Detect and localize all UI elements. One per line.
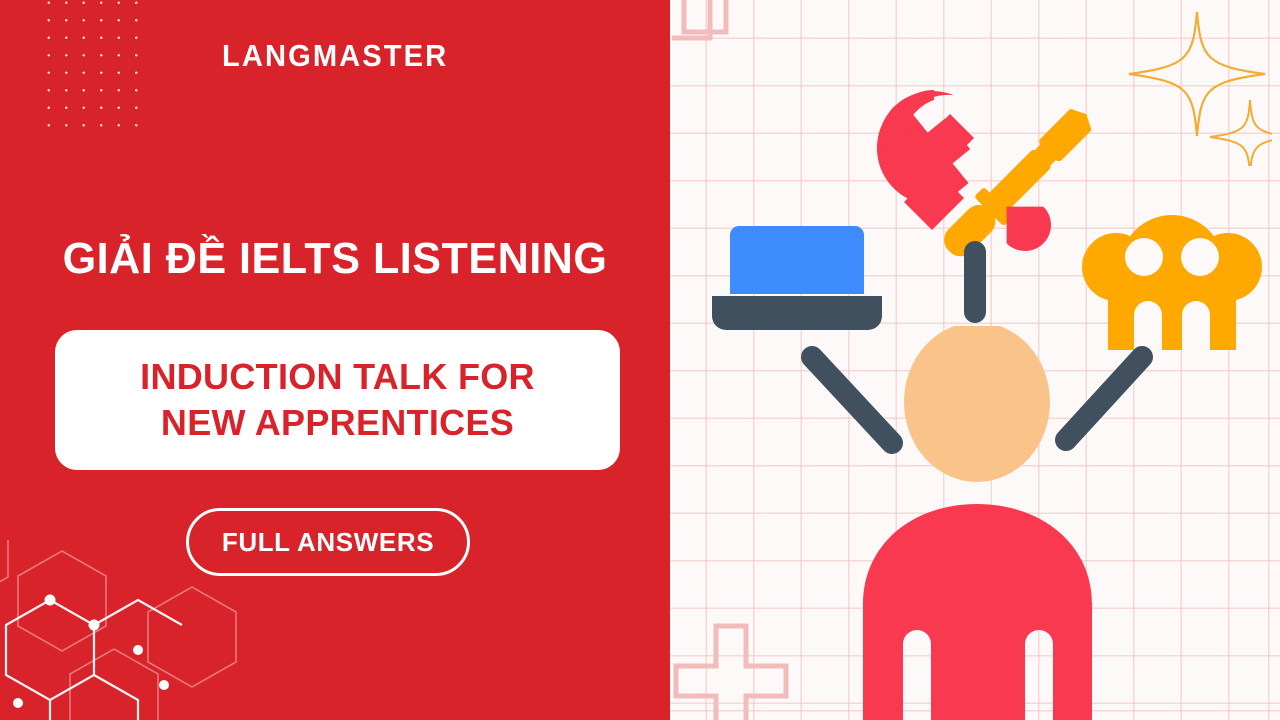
subject-line-2: NEW APPRENTICES xyxy=(161,403,514,443)
illustration-panel xyxy=(670,0,1280,720)
subject-card: INDUCTION TALK FOR NEW APPRENTICES xyxy=(55,330,620,470)
full-answers-badge[interactable]: FULL ANSWERS xyxy=(186,508,470,576)
poster-canvas: LANGMASTER GIẢI ĐỀ IELTS LISTENING INDUC… xyxy=(0,0,1280,720)
plus-outline-icon xyxy=(672,620,792,720)
page-title: GIẢI ĐỀ IELTS LISTENING xyxy=(7,236,664,282)
full-answers-label: FULL ANSWERS xyxy=(222,527,434,558)
title-panel: LANGMASTER GIẢI ĐỀ IELTS LISTENING INDUC… xyxy=(0,0,670,720)
brand-logo[interactable]: LANGMASTER xyxy=(222,38,448,74)
subject-line-1: INDUCTION TALK FOR xyxy=(140,357,535,397)
apprentice-person-icon xyxy=(855,326,1100,720)
step-outline-icon xyxy=(670,0,756,122)
dot-grid-pattern xyxy=(40,0,140,134)
